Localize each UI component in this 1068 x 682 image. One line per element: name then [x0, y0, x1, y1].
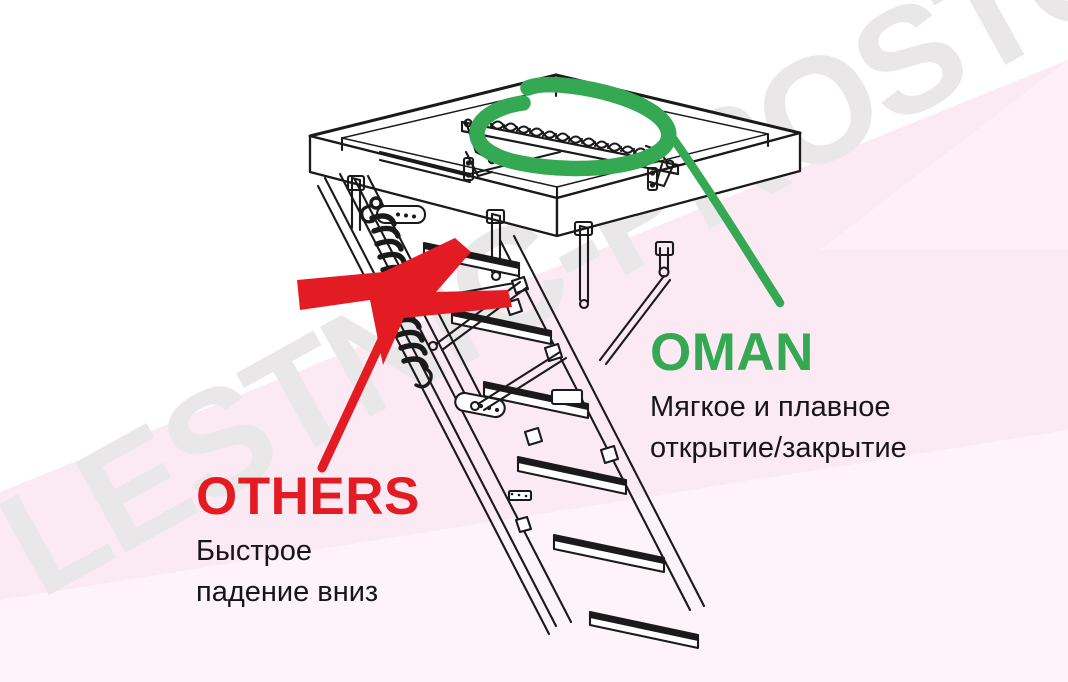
red-arrow-marker	[297, 238, 512, 468]
oman-line-1: Мягкое и плавное	[650, 387, 1000, 428]
others-line-2: падение вниз	[196, 572, 526, 613]
callout-oman: OMAN Мягкое и плавное открытие/закрытие	[650, 326, 1000, 469]
others-line-1: Быстрое	[196, 531, 526, 572]
green-leader-line	[662, 123, 780, 303]
oman-line-2: открытие/закрытие	[650, 428, 1000, 469]
green-circle-marker	[477, 85, 669, 169]
oman-title: OMAN	[650, 326, 1000, 379]
illustration-canvas: LESTNIC-PROSTO.RU	[0, 0, 1068, 682]
others-title: OTHERS	[196, 470, 526, 523]
callout-others: OTHERS Быстрое падение вниз	[196, 470, 526, 613]
